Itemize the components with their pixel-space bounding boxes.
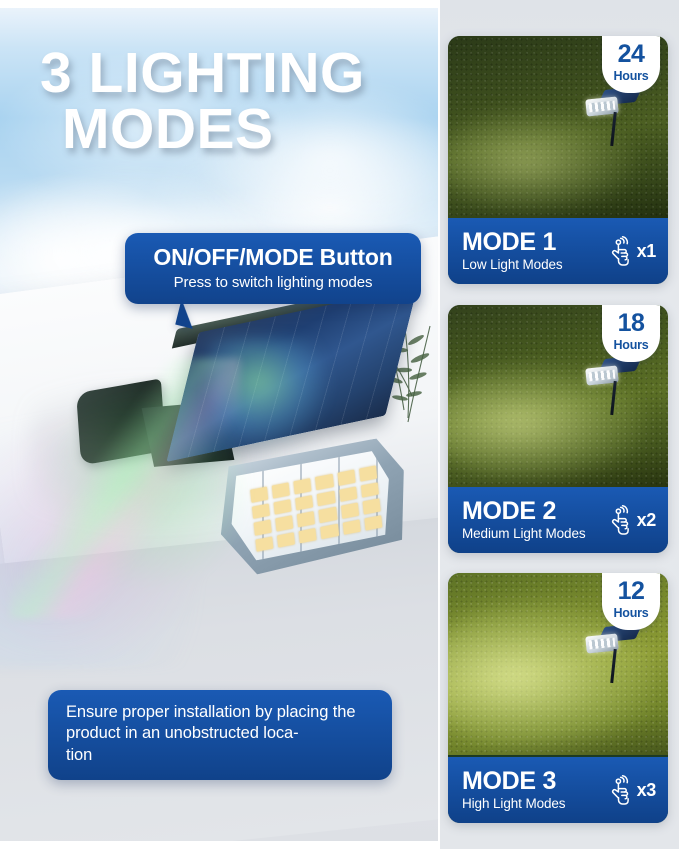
callout-subtitle: Press to switch lighting modes [135, 274, 411, 291]
mode-label-bar-2: MODE 2 Medium Light Modes [448, 487, 668, 553]
product-infographic-poster: 3 LIGHTING MODES ON/OFF/MODE Button Pres… [0, 0, 679, 849]
modes-column: 24 Hours MODE 1 Low Light Modes [440, 0, 679, 849]
press-count: x2 [637, 510, 656, 531]
hours-label: Hours [602, 338, 660, 353]
press-count: x3 [637, 780, 656, 801]
lamp-head [211, 435, 416, 578]
mode-title: MODE 2 [462, 499, 608, 525]
hours-label: Hours [602, 69, 660, 84]
mini-solar-light-icon [586, 88, 640, 146]
mode-label-bar-3: MODE 3 High Light Modes [448, 757, 668, 823]
mode-label-bar-1: MODE 1 Low Light Modes [448, 218, 668, 284]
installation-note-text: Ensure proper installation by placing th… [66, 702, 374, 766]
headline-line-1: 3 LIGHTING [40, 41, 365, 105]
hand-press-icon [608, 505, 635, 535]
hours-value: 24 [602, 42, 660, 67]
hours-badge-1: 24 Hours [602, 36, 660, 93]
hours-value: 18 [602, 311, 660, 336]
mini-ground-stake [610, 381, 617, 415]
mode-subtitle: Medium Light Modes [462, 526, 608, 541]
button-callout: ON/OFF/MODE Button Press to switch light… [125, 233, 421, 304]
mode-text-block: MODE 2 Medium Light Modes [462, 499, 608, 542]
led-array [250, 465, 382, 551]
mode-title: MODE 3 [462, 769, 608, 795]
installation-note: Ensure proper installation by placing th… [48, 690, 392, 780]
hours-badge-3: 12 Hours [602, 573, 660, 630]
press-indicator-1: x1 [608, 236, 656, 266]
mini-solar-light-icon [586, 357, 640, 415]
mode-card-2[interactable]: 18 Hours MODE 2 Medium Light Modes [448, 305, 668, 553]
hours-badge-2: 18 Hours [602, 305, 660, 362]
mini-ground-stake [610, 649, 617, 683]
mini-ground-stake [610, 112, 617, 146]
callout-title: ON/OFF/MODE Button [135, 245, 411, 270]
hand-press-icon [608, 236, 635, 266]
mode-text-block: MODE 3 High Light Modes [462, 769, 608, 812]
headline-line-2: MODES [62, 102, 420, 158]
mode-subtitle: High Light Modes [462, 796, 608, 811]
mode-card-1[interactable]: 24 Hours MODE 1 Low Light Modes [448, 36, 668, 284]
hero-panel: 3 LIGHTING MODES ON/OFF/MODE Button Pres… [0, 8, 438, 841]
mode-text-block: MODE 1 Low Light Modes [462, 230, 608, 273]
mini-solar-light-icon [586, 625, 640, 683]
mode-card-3[interactable]: 12 Hours MODE 3 High Light Modes [448, 573, 668, 823]
hours-label: Hours [602, 606, 660, 621]
hours-value: 12 [602, 579, 660, 604]
press-indicator-2: x2 [608, 505, 656, 535]
press-count: x1 [637, 241, 656, 262]
page-title: 3 LIGHTING MODES [40, 46, 420, 158]
mode-title: MODE 1 [462, 230, 608, 256]
mode-subtitle: Low Light Modes [462, 257, 608, 272]
solar-wall-light-product [60, 308, 430, 608]
hand-press-icon [608, 775, 635, 805]
press-indicator-3: x3 [608, 775, 656, 805]
